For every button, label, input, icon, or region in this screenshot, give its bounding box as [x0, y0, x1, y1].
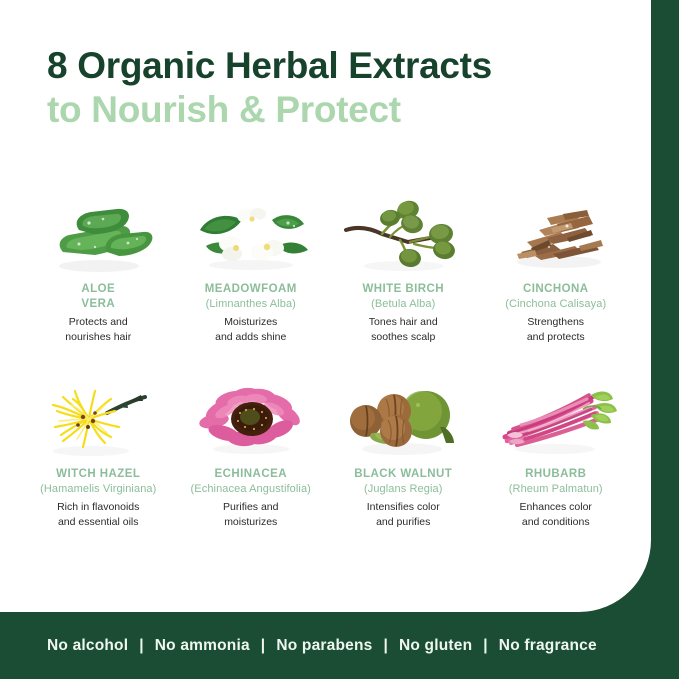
ingredient-latin-name: (Hamamelis Virginiana): [40, 482, 156, 496]
ingredient-description: Rich in flavonoids and essential oils: [57, 500, 139, 530]
ingredient-name: MEADOWFOAM: [205, 282, 297, 297]
footer-claim-ammonia: No ammonia: [155, 637, 250, 655]
ingredient-name: ALOE VERA: [81, 282, 115, 311]
ingredient-latin-name: (Cinchona Calisaya): [505, 297, 606, 311]
ingredient-description: Enhances color and conditions: [520, 500, 592, 530]
ingredient-latin-name: (Limnanthes Alba): [206, 297, 296, 311]
footer-separator: |: [139, 637, 144, 655]
ingredient-description: Tones hair and soothes scalp: [369, 315, 438, 345]
white-birch-catkin-icon: [338, 190, 468, 276]
footer-claims-list: No alcohol | No ammonia | No parabens | …: [47, 637, 597, 655]
ingredients-row-2: WITCH HAZEL (Hamamelis Virginiana) Rich …: [22, 375, 632, 530]
ingredient-description: Protects and nourishes hair: [65, 315, 131, 345]
footer-separator: |: [483, 637, 488, 655]
footer-claims-band: No alcohol | No ammonia | No parabens | …: [0, 612, 679, 679]
ingredients-grid: ALOE VERA Protects and nourishes hair: [22, 190, 632, 530]
witch-hazel-bloom-icon: [33, 375, 163, 461]
footer-claim-fragrance: No fragrance: [499, 637, 597, 655]
ingredient-name: BLACK WALNUT: [354, 467, 452, 482]
ingredient-name: RHUBARB: [525, 467, 586, 482]
aloe-vera-leaves-icon: [33, 190, 163, 276]
ingredient-name: CINCHONA: [523, 282, 589, 297]
cinchona-bark-icon: [491, 190, 621, 276]
ingredient-latin-name: (Echinacea Angustifolia): [191, 482, 311, 496]
page-title: 8 Organic Herbal Extracts: [47, 44, 627, 88]
ingredient-description: Strengthens and protects: [527, 315, 585, 345]
meadowfoam-flower-icon: [186, 190, 316, 276]
ingredient-latin-name: (Betula Alba): [371, 297, 435, 311]
ingredient-latin-name: (Juglans Regia): [364, 482, 443, 496]
herbal-extracts-infographic: No alcohol | No ammonia | No parabens | …: [0, 0, 679, 679]
ingredient-card-white-birch: WHITE BIRCH (Betula Alba) Tones hair and…: [327, 190, 480, 345]
ingredient-description: Moisturizes and adds shine: [215, 315, 286, 345]
ingredient-latin-name: (Rheum Palmatun): [509, 482, 603, 496]
footer-claim-parabens: No parabens: [276, 637, 372, 655]
ingredient-card-aloe-vera: ALOE VERA Protects and nourishes hair: [22, 190, 175, 345]
rhubarb-stalks-icon: [491, 375, 621, 461]
ingredient-name: WITCH HAZEL: [56, 467, 140, 482]
footer-claim-alcohol: No alcohol: [47, 637, 128, 655]
footer-claim-gluten: No gluten: [399, 637, 472, 655]
echinacea-flower-icon: [186, 375, 316, 461]
ingredient-card-cinchona: CINCHONA (Cinchona Calisaya) Strengthens…: [480, 190, 633, 345]
page-subtitle: to Nourish & Protect: [47, 88, 627, 132]
footer-separator: |: [261, 637, 266, 655]
footer-separator: |: [383, 637, 388, 655]
ingredient-name: WHITE BIRCH: [362, 282, 444, 297]
ingredient-card-witch-hazel: WITCH HAZEL (Hamamelis Virginiana) Rich …: [22, 375, 175, 530]
ingredient-name: ECHINACEA: [215, 467, 287, 482]
ingredient-card-meadowfoam: MEADOWFOAM (Limnanthes Alba) Moisturizes…: [175, 190, 328, 345]
ingredient-description: Intensifies color and purifies: [367, 500, 440, 530]
ingredients-row-1: ALOE VERA Protects and nourishes hair: [22, 190, 632, 345]
black-walnut-icon: [338, 375, 468, 461]
ingredient-description: Purifies and moisturizes: [223, 500, 278, 530]
ingredient-card-rhubarb: RHUBARB (Rheum Palmatun) Enhances color …: [480, 375, 633, 530]
ingredient-card-echinacea: ECHINACEA (Echinacea Angustifolia) Purif…: [175, 375, 328, 530]
page-header: 8 Organic Herbal Extracts to Nourish & P…: [47, 44, 627, 131]
ingredient-card-black-walnut: BLACK WALNUT (Juglans Regia) Intensifies…: [327, 375, 480, 530]
